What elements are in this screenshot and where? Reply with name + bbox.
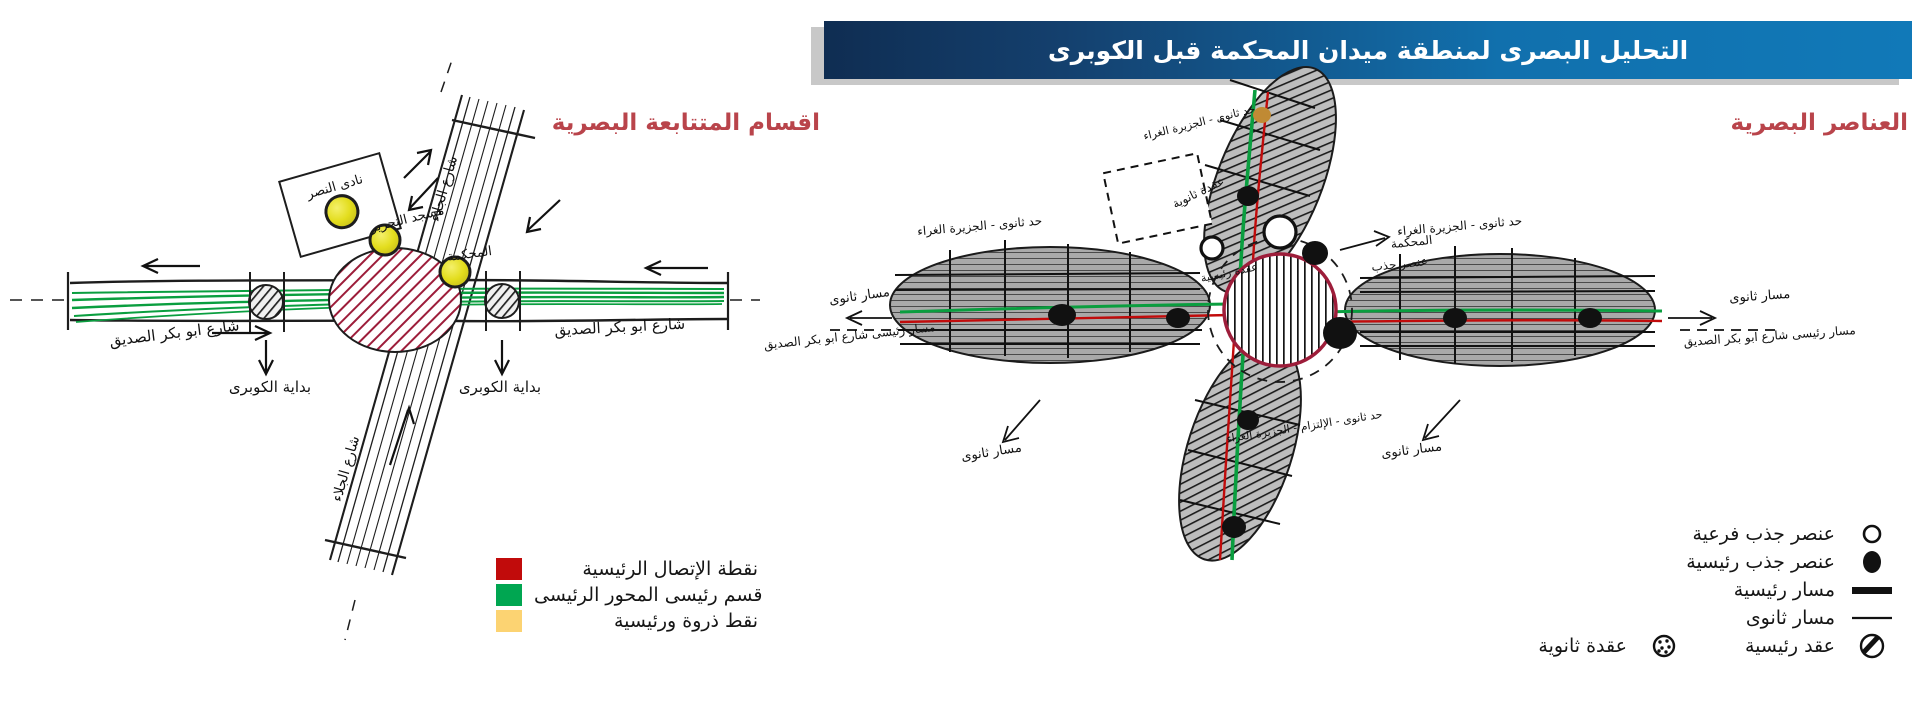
thick-line-icon [1849, 576, 1895, 604]
main-attraction-dot-i [1237, 186, 1259, 206]
legend-label: مسار رئيسية [1734, 579, 1835, 601]
legend-swatch-main-axis-section [496, 584, 522, 606]
main-attraction-dot-d [1166, 308, 1190, 328]
legend-item[interactable]: مسار ثانوى [1295, 604, 1895, 632]
dotted-circle-icon [1641, 632, 1687, 660]
legend-item[interactable]: مسار رئيسية [1295, 576, 1895, 604]
left-legend: نقطة الإتصال الرئيسية قسم رئيسى المحور ا… [496, 556, 758, 634]
label-court: المحكمة [446, 244, 493, 265]
legend-label: نقط ذروة ورئيسية [534, 610, 758, 632]
right-legend: عنصر جذب فرعية عنصر جذب رئيسية مسار رئيس… [1295, 520, 1895, 660]
main-attraction-dot-e [1443, 308, 1467, 328]
label-street-east: شارع ابو بكر الصديق [554, 315, 686, 340]
main-attraction-dot-c [1048, 304, 1076, 326]
label-main-route-east-street: مسار رئيسى شارع ابو بكر الصديق [1683, 323, 1856, 350]
label-secondary-route-left: مسار ثانوى [960, 440, 1023, 464]
legend-label: مسار ثانوى [1746, 607, 1835, 629]
label-bridge-start-west: بداية الكوبرى [229, 378, 311, 396]
legend-label: عنصر جذب فرعية [1692, 523, 1835, 545]
legend-label: نقطة الإتصال الرئيسية [534, 558, 758, 580]
main-attraction-dot-a [1302, 241, 1328, 265]
thin-line-icon [1849, 604, 1895, 632]
label-facade-top-left: حد ثانوى - الجزيرة الغراء [917, 214, 1043, 240]
sub-attraction-circle-b [1201, 237, 1223, 259]
main-attraction-dot-g [1222, 516, 1246, 538]
label-main-route-west: مسار ثانوى [828, 285, 891, 308]
legend-item[interactable]: عنصر جذب رئيسية [1295, 548, 1895, 576]
label-bridge-start-east: بداية الكوبرى [459, 378, 541, 396]
circle-filled-icon [1849, 548, 1895, 576]
legend-item[interactable]: عنصر جذب فرعية [1295, 520, 1895, 548]
analysis-board: التحليل البصرى لمنطقة ميدان المحكمة قبل … [0, 0, 1920, 719]
label-court-right: المحكمة [1390, 233, 1433, 251]
circle-outline-icon [1849, 520, 1895, 548]
legend-item[interactable]: نقطة الإتصال الرئيسية [496, 556, 758, 582]
label-main-route-east: مسار ثانوى [1729, 287, 1791, 306]
legend-item-row-nodes[interactable]: عقدة ثانوية عقد رئيسية [1295, 632, 1895, 660]
legend-label-main-node: عقد رئيسية [1745, 635, 1835, 657]
legend-swatch-peak-points [496, 610, 522, 632]
sub-attraction-circle-a [1264, 216, 1296, 248]
main-attraction-dot-f [1578, 308, 1602, 328]
hatched-circle-icon [1849, 632, 1895, 660]
legend-swatch-main-connection-point [496, 558, 522, 580]
legend-item[interactable]: قسم رئيسى المحور الرئيسى [496, 582, 758, 608]
legend-label-secondary-node: عقدة ثانوية [1538, 635, 1627, 657]
legend-label: عنصر جذب رئيسية [1686, 551, 1835, 573]
legend-item[interactable]: نقط ذروة ورئيسية [496, 608, 758, 634]
legend-label: قسم رئيسى المحور الرئيسى [534, 584, 762, 606]
diagonal-avenue-band [325, 60, 535, 640]
label-secondary-route-right: مسار ثانوى [1380, 439, 1442, 461]
main-attraction-dot-b [1323, 317, 1357, 349]
